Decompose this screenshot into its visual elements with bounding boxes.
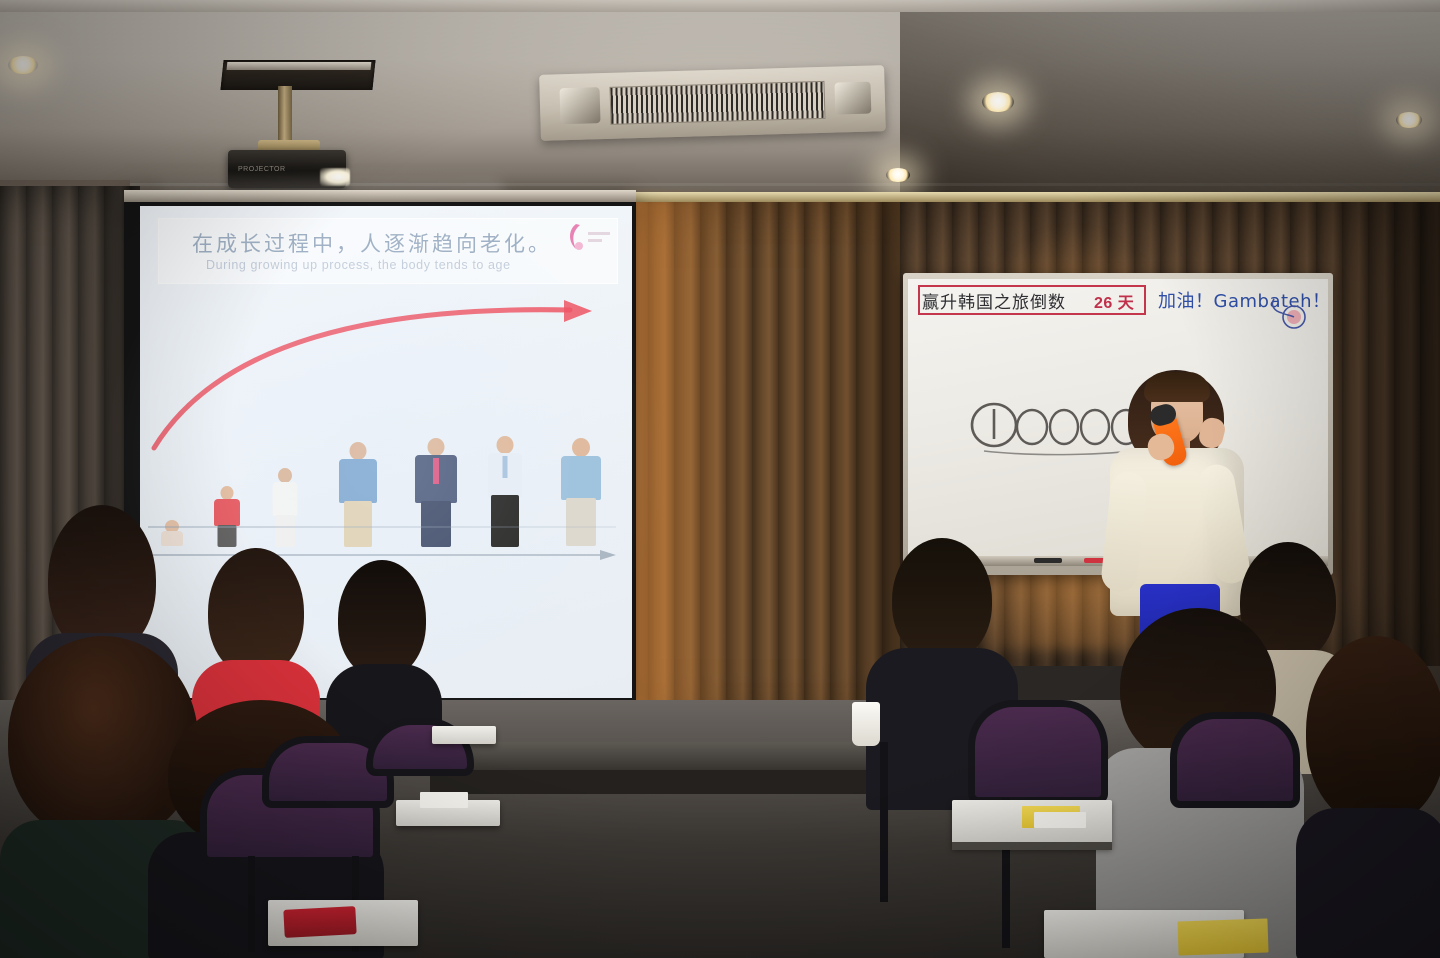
- young-adult-figure: [336, 442, 380, 546]
- chair-right-back[interactable]: [1170, 712, 1300, 808]
- slide-title-english: During growing up process, the body tend…: [206, 258, 606, 272]
- projector-mount-pole: [278, 86, 292, 148]
- downlight-right: [886, 168, 910, 182]
- balloon-doodle-stamp: [1268, 295, 1316, 331]
- chair-leg: [248, 856, 255, 952]
- elderly-man-figure: [558, 438, 604, 546]
- whiteboard-countdown: 26 天: [1094, 289, 1134, 313]
- light-bulb-glow: [886, 168, 910, 182]
- ac-grille: [610, 81, 826, 125]
- mature-man-figure: [484, 436, 526, 546]
- brand-swoosh-logo: [562, 220, 618, 254]
- projector-lens: [320, 168, 350, 186]
- attendee-right-edge: [1296, 636, 1440, 958]
- whiteboard-headline: 赢升韩国之旅倒数: [922, 288, 1066, 313]
- curtain-rail-center: [622, 192, 922, 202]
- desk-left-back: [432, 726, 496, 744]
- ac-vane-left: [560, 87, 601, 124]
- yellow-notepad[interactable]: [1177, 918, 1268, 955]
- white-paper[interactable]: [420, 792, 468, 808]
- child-figure: [212, 486, 242, 546]
- stage-step-face: [430, 770, 900, 794]
- slide-ground-line: [148, 526, 616, 528]
- ceiling-seam: [0, 183, 1440, 186]
- ac-vane-right: [834, 82, 871, 115]
- stage-step: [430, 742, 900, 772]
- projector-icon: PROJECTOR: [228, 150, 346, 188]
- white-paper[interactable]: [1034, 812, 1086, 828]
- light-bulb-glow: [1396, 112, 1422, 128]
- presenter-fringe: [1144, 372, 1210, 402]
- seminar-room-photo: PROJECTOR 在成长过程中，人逐渐趋向老化。 During growing…: [0, 0, 1440, 958]
- paper-cup[interactable]: [852, 702, 880, 746]
- downlight-center-right: [982, 92, 1014, 112]
- curtain-rail-right: [900, 192, 1440, 202]
- projector-label: PROJECTOR: [238, 166, 286, 173]
- downlight-far-right: [1396, 112, 1422, 128]
- desk-edge: [952, 842, 1112, 850]
- chair-leg: [880, 742, 888, 902]
- light-bulb-glow: [982, 92, 1014, 112]
- businessman-figure: [412, 438, 460, 546]
- projection-screen-roller: [124, 190, 636, 202]
- teenager-figure: [270, 468, 300, 546]
- air-vent-icon: [539, 65, 886, 141]
- ceiling-recess: [220, 60, 375, 90]
- light-bulb-glow: [8, 56, 38, 74]
- red-notebook[interactable]: [283, 906, 356, 938]
- chair-right-front[interactable]: [968, 700, 1108, 804]
- marker-black[interactable]: [1034, 558, 1062, 563]
- ceiling-beam: [0, 0, 1440, 12]
- slide-title-chinese: 在成长过程中，人逐渐趋向老化。: [192, 228, 592, 258]
- downlight-left: [8, 56, 38, 74]
